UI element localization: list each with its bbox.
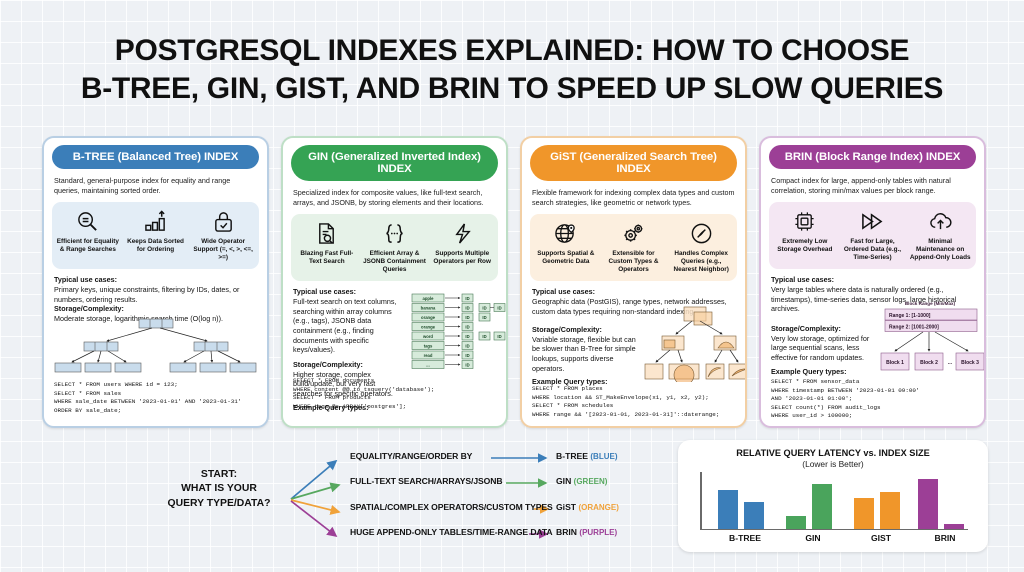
flow-branch-1-result: GIN (GREEN) <box>556 476 607 486</box>
feature-gin-1: Efficient Array & JSONB Containment Quer… <box>361 221 429 275</box>
feature-btree-1: Keeps Data Sorted for Ordering <box>122 209 190 263</box>
chart-group-gist: GIST <box>852 473 910 529</box>
feature-gist-0-label: Supports Spatial & Geometric Data <box>534 250 598 266</box>
chart-bar-brin-latency <box>918 479 938 528</box>
svg-text:ID: ID <box>482 315 486 320</box>
chart-x-axis <box>700 529 968 531</box>
feature-brin-0-label: Extremely Low Storage Overhead <box>773 238 837 254</box>
svg-text:tags: tags <box>424 344 433 349</box>
flow-branch-1-hue: (GREEN) <box>574 477 608 486</box>
svg-text:...: ... <box>948 360 953 366</box>
chart-bar-gin-latency <box>786 516 806 528</box>
feature-btree-2-label: Wide Operator Support (=, <, >, <=, >=) <box>191 238 255 263</box>
svg-text:Block 2: Block 2 <box>920 360 938 366</box>
flow-branch-3-result: BRIN (PURPLE) <box>556 527 617 537</box>
card-gist-query: SELECT * FROM places WHERE location && S… <box>522 382 729 419</box>
svg-text:ID: ID <box>465 315 469 320</box>
feature-brin-0: Extremely Low Storage Overhead <box>771 209 839 263</box>
card-gist-storage-label: Storage/Complexity: <box>532 325 602 334</box>
flow-branch-0-hue: (BLUE) <box>590 452 617 461</box>
card-gin-summary: Specialized index for composite values, … <box>283 188 506 214</box>
bounding-box-tree-diagram <box>642 306 747 382</box>
card-gist-storage-block: Storage/Complexity: Variable storage, fl… <box>522 325 647 387</box>
inverted-index-diagram: applebananaorange orangewordtags read...… <box>411 293 507 373</box>
feature-gin-0: Blazing Fast Full-Text Search <box>293 221 361 275</box>
feature-gin-1-label: Efficient Array & JSONB Containment Quer… <box>363 250 427 275</box>
svg-text:ID: ID <box>465 353 469 358</box>
card-gin-storage-label: Storage/Complexity: <box>293 360 363 369</box>
svg-text:Range 1: [1-1000]: Range 1: [1-1000] <box>889 313 931 319</box>
chart-label-gin: GIN <box>784 533 842 543</box>
feature-btree-0-label: Efficient for Equality & Range Searches <box>56 238 120 254</box>
svg-text:orange: orange <box>421 325 436 330</box>
feature-btree-2: Wide Operator Support (=, <, >, <=, >=) <box>189 209 257 263</box>
svg-text:ID: ID <box>465 344 469 349</box>
card-gist-features: Supports Spatial & Geometric Data <box>530 214 737 282</box>
chart-label-btree: B-TREE <box>716 533 774 543</box>
chart-bar-brin-size <box>944 524 964 528</box>
svg-text:ID: ID <box>465 363 469 368</box>
flow-branch-2-condition: SPATIAL/COMPLEX OPERATORS/CUSTOM TYPES <box>350 502 553 512</box>
card-brin-query: SELECT * FROM sensor_data WHERE timestam… <box>761 375 929 421</box>
card-gist-usecases-label: Typical use cases: <box>532 287 595 296</box>
chart-bar-btree-size <box>744 502 764 529</box>
flow-branch-2-index: GiST <box>556 502 576 512</box>
block-range-caption: Block Range (Min/Max) <box>905 301 956 306</box>
feature-btree-1-label: Keeps Data Sorted for Ordering <box>124 238 188 254</box>
flow-branch-0-index: B-TREE <box>556 451 588 461</box>
feature-brin-1-label: Fast for Large, Ordered Data (e.g., Time… <box>841 238 905 263</box>
feature-brin-1: Fast for Large, Ordered Data (e.g., Time… <box>839 209 907 263</box>
chart-subtitle: (Lower is Better) <box>678 459 988 469</box>
card-gist-summary: Flexible framework for indexing complex … <box>522 188 745 214</box>
card-gist-storage: Variable storage, flexible but can be sl… <box>532 335 636 373</box>
card-btree-query: SELECT * FROM users WHERE id = 123; SELE… <box>44 378 251 415</box>
svg-text:orange: orange <box>421 315 436 320</box>
feature-brin-2-label: Minimal Maintenance on Append-Only Loads <box>908 238 972 263</box>
svg-text:ID: ID <box>482 306 486 311</box>
flow-branch-1-condition: FULL-TEXT SEARCH/ARRAYS/JSONB <box>350 476 502 486</box>
svg-text:ID: ID <box>465 306 469 311</box>
chart-title: RELATIVE QUERY LATENCY vs. INDEX SIZE <box>678 440 988 458</box>
card-brin-features: Extremely Low Storage Overhead Fast for … <box>769 202 976 270</box>
magnifier-equals-icon <box>56 209 120 235</box>
feature-btree-0: Efficient for Equality & Range Searches <box>54 209 122 263</box>
card-gin-header: GIN (Generalized Inverted Index) INDEX <box>291 145 498 181</box>
card-btree-features: Efficient for Equality & Range Searches … <box>52 202 259 270</box>
svg-text:banana: banana <box>421 306 436 311</box>
svg-text:ID: ID <box>497 334 501 339</box>
card-gin-query: SELECT * FROM documents WHERE content @@… <box>283 374 444 411</box>
svg-text:ID: ID <box>465 325 469 330</box>
page-title-line-2: B-TREE, GIN, GIST, AND BRIN TO SPEED UP … <box>0 70 1024 108</box>
btree-node-diagram <box>52 318 262 374</box>
flow-branch-3-index: BRIN <box>556 527 577 537</box>
chart-y-axis <box>700 472 702 530</box>
card-btree[interactable]: B-TREE (Balanced Tree) INDEX Standard, g… <box>42 136 269 428</box>
card-btree-usecases: Primary keys, unique constraints, filter… <box>54 285 239 304</box>
lock-check-icon <box>191 209 255 235</box>
document-search-icon <box>295 221 359 247</box>
chart-group-btree: B-TREE <box>716 473 774 529</box>
card-btree-body: Typical use cases: Primary keys, unique … <box>44 275 267 323</box>
flow-branch-3-hue: (PURPLE) <box>579 528 617 537</box>
svg-text:ID: ID <box>465 334 469 339</box>
flow-branch-0-condition: EQUALITY/RANGE/ORDER BY <box>350 451 472 461</box>
chart-label-brin: BRIN <box>916 533 974 543</box>
decision-flow: START: WHAT IS YOUR QUERY TYPE/DATA? EQU… <box>150 444 650 554</box>
card-gin-features: Blazing Fast Full-Text Search Efficient … <box>291 214 498 282</box>
feature-gin-2-label: Supports Multiple Operators per Row <box>430 250 494 266</box>
flow-branch-2-result: GiST (ORANGE) <box>556 502 619 512</box>
card-brin-storage: Very low storage, optimized for large se… <box>771 334 869 362</box>
card-btree-storage-label: Storage/Complexity: <box>54 304 124 313</box>
lightning-bolt-icon <box>430 221 494 247</box>
card-gin[interactable]: GIN (Generalized Inverted Index) INDEX S… <box>281 136 508 428</box>
card-gist[interactable]: GiST (Generalized Search Tree) INDEX Fle… <box>520 136 747 428</box>
feature-gist-2-label: Handles Complex Queries (e.g., Nearest N… <box>669 250 733 275</box>
index-cards-row: B-TREE (Balanced Tree) INDEX Standard, g… <box>42 136 986 428</box>
feature-gist-2: Handles Complex Queries (e.g., Nearest N… <box>667 221 735 275</box>
flow-branch-2-hue: (ORANGE) <box>578 503 618 512</box>
block-range-diagram: Block Range (Min/Max) Range 1: [1-1000] … <box>871 298 986 378</box>
feature-gin-2: Supports Multiple Operators per Row <box>428 221 496 275</box>
card-brin-storage-label: Storage/Complexity: <box>771 324 841 333</box>
feature-gist-1: Extensible for Custom Types & Operators <box>600 221 668 275</box>
chart-label-gist: GIST <box>852 533 910 543</box>
chart-plot-area: B-TREE GIN GIST BRIN <box>700 472 968 530</box>
svg-text:ID: ID <box>482 334 486 339</box>
card-btree-summary: Standard, general-purpose index for equa… <box>44 176 267 202</box>
chart-bar-btree-latency <box>718 490 738 528</box>
card-brin-header: BRIN (Block Range Index) INDEX <box>769 145 976 169</box>
chart-group-gin: GIN <box>784 473 842 529</box>
feature-gist-1-label: Extensible for Custom Types & Operators <box>602 250 666 275</box>
chart-group-brin: BRIN <box>916 473 974 529</box>
card-gin-usecases: Full-text search on text columns, search… <box>293 297 396 354</box>
chart-bar-gist-size <box>880 492 900 529</box>
card-gist-header: GiST (Generalized Search Tree) INDEX <box>530 145 737 181</box>
card-btree-header: B-TREE (Balanced Tree) INDEX <box>52 145 259 169</box>
card-brin-summary: Compact index for large, append-only tab… <box>761 176 984 202</box>
svg-text:ID: ID <box>497 306 501 311</box>
svg-text:Block 3: Block 3 <box>961 360 979 366</box>
svg-text:ID: ID <box>465 296 469 301</box>
card-brin[interactable]: BRIN (Block Range Index) INDEX Compact i… <box>759 136 986 428</box>
feature-gin-0-label: Blazing Fast Full-Text Search <box>295 250 359 266</box>
card-btree-usecases-label: Typical use cases: <box>54 275 117 284</box>
cloud-upload-icon <box>908 209 972 235</box>
feature-gist-0: Supports Spatial & Geometric Data <box>532 221 600 275</box>
svg-text:...: ... <box>426 363 430 368</box>
chart-bar-gin-size <box>812 484 832 529</box>
card-gin-usecases-label: Typical use cases: <box>293 287 356 296</box>
svg-text:Block 1: Block 1 <box>886 360 904 366</box>
card-brin-usecases-label: Typical use cases: <box>771 275 834 284</box>
chart-bar-gist-latency <box>854 498 874 528</box>
compass-icon <box>669 221 733 247</box>
svg-text:Range 2: [1001-2000]: Range 2: [1001-2000] <box>889 325 939 331</box>
json-braces-icon <box>363 221 427 247</box>
gears-icon <box>602 221 666 247</box>
flow-branch-1-index: GIN <box>556 476 571 486</box>
chip-icon <box>773 209 837 235</box>
feature-brin-2: Minimal Maintenance on Append-Only Loads <box>906 209 974 263</box>
fast-forward-icon <box>841 209 905 235</box>
page-title-line-1: POSTGRESQL INDEXES EXPLAINED: HOW TO CHO… <box>0 32 1024 70</box>
sorted-bars-arrow-icon <box>124 209 188 235</box>
globe-pin-icon <box>534 221 598 247</box>
flow-branch-0-result: B-TREE (BLUE) <box>556 451 618 461</box>
latency-chart-card: RELATIVE QUERY LATENCY vs. INDEX SIZE (L… <box>678 440 988 552</box>
svg-text:read: read <box>424 353 433 358</box>
page-title: POSTGRESQL INDEXES EXPLAINED: HOW TO CHO… <box>0 32 1024 109</box>
flow-branch-3-condition: HUGE APPEND-ONLY TABLES/TIME-RANGE DATA <box>350 527 553 537</box>
svg-text:apple: apple <box>423 296 435 301</box>
svg-text:word: word <box>422 334 433 339</box>
